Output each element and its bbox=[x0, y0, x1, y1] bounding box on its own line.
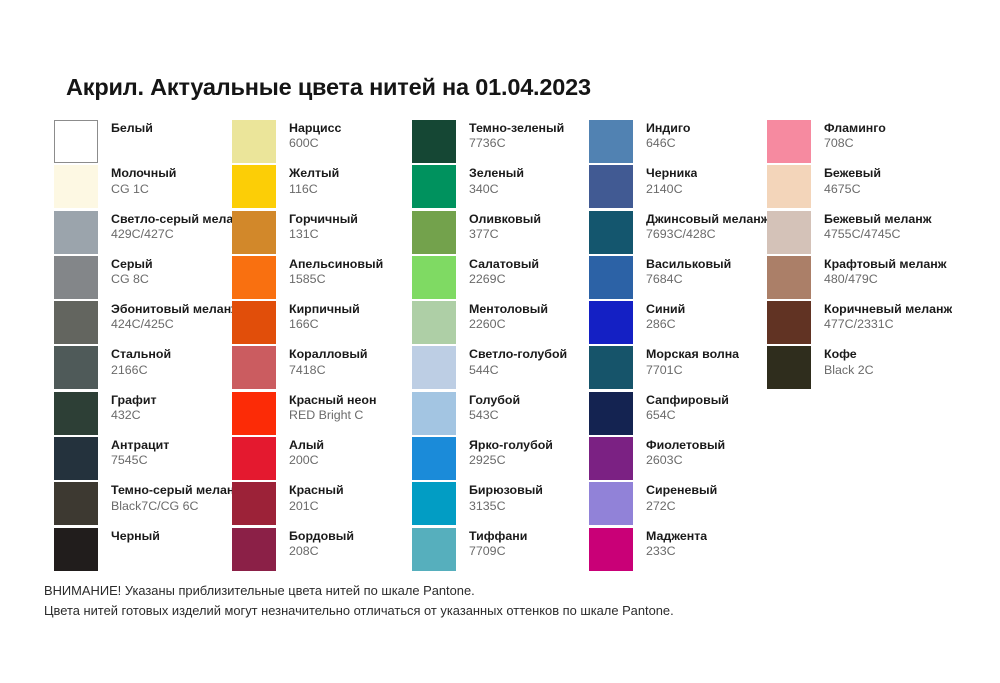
swatch-text: МолочныйCG 1C bbox=[111, 165, 176, 196]
swatch-pantone-code: 429C/427C bbox=[111, 227, 232, 242]
swatch-row[interactable]: Нарцисс600C bbox=[232, 120, 412, 165]
swatch-text: Голубой543C bbox=[469, 392, 520, 423]
swatch-text: Морская волна7701C bbox=[646, 346, 739, 377]
swatch-row[interactable]: Фламинго708C bbox=[767, 120, 967, 165]
swatch-row[interactable]: Маджента233C bbox=[589, 528, 767, 573]
swatch-row[interactable]: Крафтовый меланж480/479C bbox=[767, 256, 967, 301]
swatch-name: Сапфировый bbox=[646, 393, 729, 408]
swatch-name: Эбонитовый меланж bbox=[111, 302, 232, 317]
color-swatch[interactable] bbox=[412, 120, 456, 163]
swatch-text: Коричневый меланж477C/2331C bbox=[824, 301, 952, 332]
swatch-pantone-code: 2166C bbox=[111, 363, 171, 378]
swatch-name: Коричневый меланж bbox=[824, 302, 952, 317]
swatch-name: Темно-зеленый bbox=[469, 121, 564, 136]
swatch-row[interactable]: Апельсиновый1585C bbox=[232, 256, 412, 301]
swatch-name: Голубой bbox=[469, 393, 520, 408]
swatch-text: КофеBlack 2C bbox=[824, 346, 874, 377]
swatch-row[interactable]: Бежевый4675C bbox=[767, 165, 967, 210]
swatch-name: Светло-голубой bbox=[469, 347, 567, 362]
swatch-text: Бежевый меланж4755C/4745C bbox=[824, 211, 932, 242]
color-swatch[interactable] bbox=[54, 346, 98, 389]
swatch-pantone-code: 7709C bbox=[469, 544, 527, 559]
swatch-text: Бордовый208C bbox=[289, 528, 354, 559]
swatch-text: Стальной2166C bbox=[111, 346, 171, 377]
swatch-row[interactable]: Васильковый7684C bbox=[589, 256, 767, 301]
swatch-text: Черный bbox=[111, 528, 160, 544]
swatch-row[interactable]: Красный201C bbox=[232, 482, 412, 527]
color-swatch[interactable] bbox=[232, 211, 276, 254]
color-swatch[interactable] bbox=[589, 256, 633, 299]
swatch-row[interactable]: Коралловый7418C bbox=[232, 346, 412, 391]
footer-line-2: Цвета нитей готовых изделий могут незнач… bbox=[44, 601, 944, 621]
swatch-text: Бирюзовый3135C bbox=[469, 482, 543, 513]
swatch-row[interactable]: Синий286C bbox=[589, 301, 767, 346]
color-swatch[interactable] bbox=[589, 437, 633, 480]
swatch-pantone-code: 4675C bbox=[824, 182, 881, 197]
swatch-text: Васильковый7684C bbox=[646, 256, 731, 287]
swatch-row[interactable]: Фиолетовый2603C bbox=[589, 437, 767, 482]
swatch-text: Ярко-голубой2925C bbox=[469, 437, 553, 468]
color-swatch[interactable] bbox=[54, 392, 98, 435]
swatch-pantone-code: 4755C/4745C bbox=[824, 227, 932, 242]
color-swatch[interactable] bbox=[412, 482, 456, 525]
color-swatch[interactable] bbox=[54, 120, 98, 163]
swatch-name: Красный неон bbox=[289, 393, 376, 408]
color-swatch[interactable] bbox=[589, 528, 633, 571]
swatch-name: Крафтовый меланж bbox=[824, 257, 947, 272]
swatch-pantone-code: 544C bbox=[469, 363, 567, 378]
swatch-row[interactable]: Салатовый2269C bbox=[412, 256, 589, 301]
swatch-column: БелыйМолочныйCG 1CСветло-серый меланж429… bbox=[54, 120, 232, 573]
swatch-name: Апельсиновый bbox=[289, 257, 383, 272]
swatch-text: Антрацит7545C bbox=[111, 437, 169, 468]
swatch-text: Кирпичный166C bbox=[289, 301, 360, 332]
swatch-pantone-code: 377C bbox=[469, 227, 541, 242]
swatch-row[interactable]: Бежевый меланж4755C/4745C bbox=[767, 211, 967, 256]
color-swatch[interactable] bbox=[232, 437, 276, 480]
swatch-text: Фламинго708C bbox=[824, 120, 886, 151]
swatch-pantone-code: 7418C bbox=[289, 363, 368, 378]
swatch-name: Сиреневый bbox=[646, 483, 717, 498]
swatch-name: Джинсовый меланж bbox=[646, 212, 767, 227]
color-swatch[interactable] bbox=[232, 301, 276, 344]
color-swatch[interactable] bbox=[412, 437, 456, 480]
swatch-row[interactable]: Тиффани7709C bbox=[412, 528, 589, 573]
swatch-grid: БелыйМолочныйCG 1CСветло-серый меланж429… bbox=[0, 120, 1000, 573]
swatch-pantone-code: Black7C/CG 6C bbox=[111, 499, 232, 514]
color-swatch[interactable] bbox=[589, 482, 633, 525]
color-swatch[interactable] bbox=[589, 346, 633, 389]
swatch-row[interactable]: Стальной2166C bbox=[54, 346, 232, 391]
color-swatch[interactable] bbox=[767, 301, 811, 344]
swatch-row[interactable]: Антрацит7545C bbox=[54, 437, 232, 482]
swatch-pantone-code: 477C/2331C bbox=[824, 317, 952, 332]
swatch-column: Фламинго708CБежевый4675CБежевый меланж47… bbox=[767, 120, 967, 573]
swatch-text: Салатовый2269C bbox=[469, 256, 539, 287]
color-swatch[interactable] bbox=[54, 482, 98, 525]
swatch-pantone-code: CG 1C bbox=[111, 182, 176, 197]
swatch-text: Красный неонRED Bright C bbox=[289, 392, 376, 423]
swatch-pantone-code: 7684C bbox=[646, 272, 731, 287]
swatch-text: Сиреневый272C bbox=[646, 482, 717, 513]
swatch-name: Нарцисс bbox=[289, 121, 341, 136]
swatch-pantone-code: 166C bbox=[289, 317, 360, 332]
swatch-pantone-code: 208C bbox=[289, 544, 354, 559]
swatch-row[interactable]: Кирпичный166C bbox=[232, 301, 412, 346]
swatch-row[interactable]: Светло-серый меланж429C/427C bbox=[54, 211, 232, 256]
swatch-text: Графит432C bbox=[111, 392, 157, 423]
color-swatch[interactable] bbox=[54, 301, 98, 344]
swatch-pantone-code: 131C bbox=[289, 227, 358, 242]
color-swatch[interactable] bbox=[767, 211, 811, 254]
footer-note: ВНИМАНИЕ! Указаны приблизительные цвета … bbox=[44, 581, 944, 621]
color-swatch[interactable] bbox=[767, 256, 811, 299]
swatch-text: Фиолетовый2603C bbox=[646, 437, 725, 468]
swatch-row[interactable]: СерыйCG 8C bbox=[54, 256, 232, 301]
swatch-name: Алый bbox=[289, 438, 324, 453]
swatch-text: Горчичный131C bbox=[289, 211, 358, 242]
swatch-row[interactable]: Эбонитовый меланж424C/425C bbox=[54, 301, 232, 346]
swatch-row[interactable]: МолочныйCG 1C bbox=[54, 165, 232, 210]
color-swatch[interactable] bbox=[767, 120, 811, 163]
swatch-text: СерыйCG 8C bbox=[111, 256, 153, 287]
swatch-text: Бежевый4675C bbox=[824, 165, 881, 196]
swatch-name: Зеленый bbox=[469, 166, 524, 181]
swatch-name: Белый bbox=[111, 121, 153, 136]
swatch-name: Красный bbox=[289, 483, 344, 498]
swatch-column: Индиго646CЧерника2140CДжинсовый меланж76… bbox=[589, 120, 767, 573]
swatch-pantone-code: RED Bright C bbox=[289, 408, 376, 423]
swatch-pantone-code: 2925C bbox=[469, 453, 553, 468]
color-swatch[interactable] bbox=[412, 392, 456, 435]
swatch-row[interactable]: Светло-голубой544C bbox=[412, 346, 589, 391]
swatch-name: Горчичный bbox=[289, 212, 358, 227]
swatch-text: Синий286C bbox=[646, 301, 685, 332]
color-swatch[interactable] bbox=[412, 528, 456, 571]
swatch-row[interactable]: Сапфировый654C bbox=[589, 392, 767, 437]
swatch-row[interactable]: Темно-зеленый7736C bbox=[412, 120, 589, 165]
swatch-name: Бежевый меланж bbox=[824, 212, 932, 227]
color-swatch[interactable] bbox=[54, 165, 98, 208]
swatch-column: Нарцисс600CЖелтый116CГорчичный131CАпельс… bbox=[232, 120, 412, 573]
swatch-pantone-code: 708C bbox=[824, 136, 886, 151]
swatch-name: Тиффани bbox=[469, 529, 527, 544]
swatch-row[interactable]: Графит432C bbox=[54, 392, 232, 437]
color-swatch[interactable] bbox=[54, 528, 98, 571]
swatch-text: Оливковый377C bbox=[469, 211, 541, 242]
footer-line-1: ВНИМАНИЕ! Указаны приблизительные цвета … bbox=[44, 581, 944, 601]
color-swatch[interactable] bbox=[412, 256, 456, 299]
swatch-row[interactable]: Индиго646C bbox=[589, 120, 767, 165]
swatch-pantone-code: 543C bbox=[469, 408, 520, 423]
swatch-name: Молочный bbox=[111, 166, 176, 181]
swatch-pantone-code: 2260C bbox=[469, 317, 548, 332]
swatch-row[interactable]: Темно-серый меланжBlack7C/CG 6C bbox=[54, 482, 232, 527]
swatch-name: Кофе bbox=[824, 347, 874, 362]
swatch-name: Маджента bbox=[646, 529, 707, 544]
swatch-row[interactable]: Бордовый208C bbox=[232, 528, 412, 573]
swatch-pantone-code: 432C bbox=[111, 408, 157, 423]
swatch-name: Синий bbox=[646, 302, 685, 317]
swatch-name: Фиолетовый bbox=[646, 438, 725, 453]
swatch-row[interactable]: Черника2140C bbox=[589, 165, 767, 210]
swatch-text: Апельсиновый1585C bbox=[289, 256, 383, 287]
swatch-name: Графит bbox=[111, 393, 157, 408]
swatch-text: Светло-серый меланж429C/427C bbox=[111, 211, 232, 242]
color-swatch[interactable] bbox=[232, 482, 276, 525]
color-swatch[interactable] bbox=[232, 346, 276, 389]
swatch-text: Тиффани7709C bbox=[469, 528, 527, 559]
swatch-row[interactable]: Морская волна7701C bbox=[589, 346, 767, 391]
swatch-pantone-code: 2603C bbox=[646, 453, 725, 468]
swatch-name: Ярко-голубой bbox=[469, 438, 553, 453]
swatch-row[interactable]: Горчичный131C bbox=[232, 211, 412, 256]
swatch-row[interactable]: Ярко-голубой2925C bbox=[412, 437, 589, 482]
swatch-row[interactable]: Алый200C bbox=[232, 437, 412, 482]
color-swatch[interactable] bbox=[589, 165, 633, 208]
swatch-row[interactable]: Сиреневый272C bbox=[589, 482, 767, 527]
swatch-text: Зеленый340C bbox=[469, 165, 524, 196]
swatch-pantone-code: 200C bbox=[289, 453, 324, 468]
swatch-pantone-code: 646C bbox=[646, 136, 690, 151]
swatch-name: Антрацит bbox=[111, 438, 169, 453]
swatch-name: Васильковый bbox=[646, 257, 731, 272]
swatch-text: Темно-серый меланжBlack7C/CG 6C bbox=[111, 482, 232, 513]
swatch-pantone-code: 233C bbox=[646, 544, 707, 559]
swatch-name: Морская волна bbox=[646, 347, 739, 362]
swatch-pantone-code: 340C bbox=[469, 182, 524, 197]
swatch-pantone-code: 201C bbox=[289, 499, 344, 514]
swatch-row[interactable]: Джинсовый меланж7693C/428C bbox=[589, 211, 767, 256]
swatch-text: Джинсовый меланж7693C/428C bbox=[646, 211, 767, 242]
swatch-pantone-code: 600C bbox=[289, 136, 341, 151]
swatch-pantone-code: 116C bbox=[289, 182, 339, 197]
swatch-pantone-code: 7701C bbox=[646, 363, 739, 378]
swatch-pantone-code: 7545C bbox=[111, 453, 169, 468]
swatch-name: Салатовый bbox=[469, 257, 539, 272]
swatch-row[interactable]: КофеBlack 2C bbox=[767, 346, 967, 391]
color-swatch[interactable] bbox=[412, 211, 456, 254]
swatch-name: Черный bbox=[111, 529, 160, 544]
swatch-pantone-code: 7736C bbox=[469, 136, 564, 151]
swatch-pantone-code: 1585C bbox=[289, 272, 383, 287]
color-swatch[interactable] bbox=[232, 528, 276, 571]
swatch-pantone-code: 272C bbox=[646, 499, 717, 514]
color-swatch[interactable] bbox=[412, 301, 456, 344]
color-swatch[interactable] bbox=[232, 120, 276, 163]
swatch-row[interactable]: Зеленый340C bbox=[412, 165, 589, 210]
swatch-text: Эбонитовый меланж424C/425C bbox=[111, 301, 232, 332]
swatch-text: Красный201C bbox=[289, 482, 344, 513]
swatch-name: Ментоловый bbox=[469, 302, 548, 317]
color-chart-page: Акрил. Актуальные цвета нитей на 01.04.2… bbox=[0, 0, 1000, 683]
color-swatch[interactable] bbox=[232, 165, 276, 208]
swatch-pantone-code: 2269C bbox=[469, 272, 539, 287]
swatch-row[interactable]: Оливковый377C bbox=[412, 211, 589, 256]
swatch-row[interactable]: Белый bbox=[54, 120, 232, 165]
swatch-text: Сапфировый654C bbox=[646, 392, 729, 423]
swatch-text: Ментоловый2260C bbox=[469, 301, 548, 332]
swatch-text: Нарцисс600C bbox=[289, 120, 341, 151]
color-swatch[interactable] bbox=[54, 256, 98, 299]
swatch-name: Бежевый bbox=[824, 166, 881, 181]
swatch-name: Фламинго bbox=[824, 121, 886, 136]
swatch-text: Белый bbox=[111, 120, 153, 136]
swatch-name: Бордовый bbox=[289, 529, 354, 544]
swatch-name: Коралловый bbox=[289, 347, 368, 362]
swatch-text: Темно-зеленый7736C bbox=[469, 120, 564, 151]
swatch-row[interactable]: Черный bbox=[54, 528, 232, 573]
swatch-row[interactable]: Красный неонRED Bright C bbox=[232, 392, 412, 437]
swatch-text: Индиго646C bbox=[646, 120, 690, 151]
color-swatch[interactable] bbox=[589, 211, 633, 254]
swatch-row[interactable]: Ментоловый2260C bbox=[412, 301, 589, 346]
color-swatch[interactable] bbox=[232, 256, 276, 299]
color-swatch[interactable] bbox=[412, 346, 456, 389]
swatch-pantone-code: CG 8C bbox=[111, 272, 153, 287]
swatch-pantone-code: 3135C bbox=[469, 499, 543, 514]
swatch-name: Черника bbox=[646, 166, 697, 181]
swatch-text: Светло-голубой544C bbox=[469, 346, 567, 377]
swatch-name: Оливковый bbox=[469, 212, 541, 227]
swatch-name: Индиго bbox=[646, 121, 690, 136]
swatch-row[interactable]: Коричневый меланж477C/2331C bbox=[767, 301, 967, 346]
swatch-pantone-code: 654C bbox=[646, 408, 729, 423]
swatch-pantone-code: Black 2C bbox=[824, 363, 874, 378]
color-swatch[interactable] bbox=[767, 165, 811, 208]
swatch-pantone-code: 480/479C bbox=[824, 272, 947, 287]
swatch-row[interactable]: Голубой543C bbox=[412, 392, 589, 437]
color-swatch[interactable] bbox=[54, 211, 98, 254]
swatch-pantone-code: 286C bbox=[646, 317, 685, 332]
swatch-name: Желтый bbox=[289, 166, 339, 181]
color-swatch[interactable] bbox=[767, 346, 811, 389]
swatch-name: Серый bbox=[111, 257, 153, 272]
swatch-pantone-code: 7693C/428C bbox=[646, 227, 767, 242]
swatch-text: Маджента233C bbox=[646, 528, 707, 559]
swatch-text: Коралловый7418C bbox=[289, 346, 368, 377]
swatch-name: Темно-серый меланж bbox=[111, 483, 232, 498]
swatch-row[interactable]: Бирюзовый3135C bbox=[412, 482, 589, 527]
color-swatch[interactable] bbox=[232, 392, 276, 435]
swatch-text: Крафтовый меланж480/479C bbox=[824, 256, 947, 287]
swatch-name: Бирюзовый bbox=[469, 483, 543, 498]
swatch-name: Светло-серый меланж bbox=[111, 212, 232, 227]
swatch-column: Темно-зеленый7736CЗеленый340CОливковый37… bbox=[412, 120, 589, 573]
swatch-text: Черника2140C bbox=[646, 165, 697, 196]
page-title: Акрил. Актуальные цвета нитей на 01.04.2… bbox=[66, 74, 591, 101]
color-swatch[interactable] bbox=[589, 120, 633, 163]
swatch-name: Кирпичный bbox=[289, 302, 360, 317]
color-swatch[interactable] bbox=[589, 301, 633, 344]
swatch-text: Желтый116C bbox=[289, 165, 339, 196]
color-swatch[interactable] bbox=[412, 165, 456, 208]
color-swatch[interactable] bbox=[54, 437, 98, 480]
color-swatch[interactable] bbox=[589, 392, 633, 435]
swatch-pantone-code: 2140C bbox=[646, 182, 697, 197]
swatch-text: Алый200C bbox=[289, 437, 324, 468]
swatch-pantone-code: 424C/425C bbox=[111, 317, 232, 332]
swatch-row[interactable]: Желтый116C bbox=[232, 165, 412, 210]
swatch-name: Стальной bbox=[111, 347, 171, 362]
